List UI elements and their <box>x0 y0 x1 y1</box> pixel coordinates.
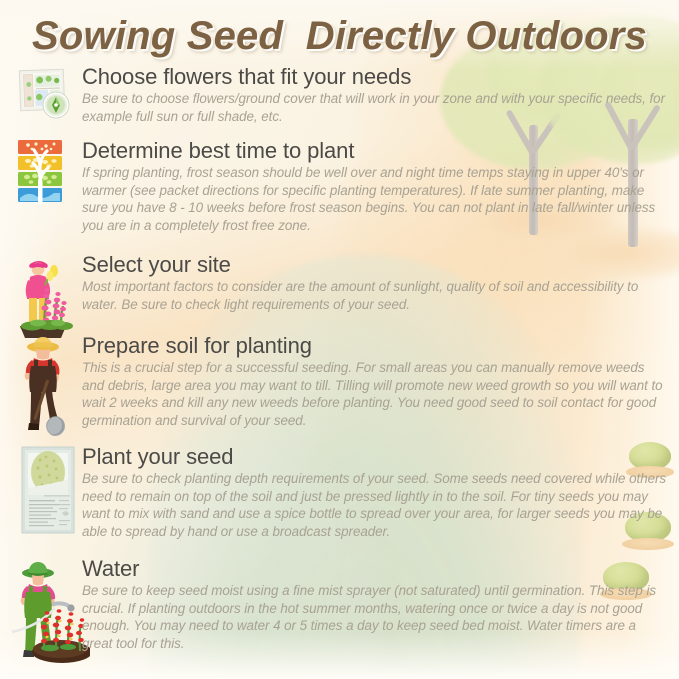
step-text: Plant your seed Be sure to check plantin… <box>82 444 670 540</box>
step-text: Determine best time to plant If spring p… <box>82 138 670 234</box>
step-body: This is a crucial step for a successful … <box>82 359 670 429</box>
garden-plan-compass-icon <box>14 64 76 126</box>
steps-list: Choose flowers that fit your needs Be su… <box>0 0 679 679</box>
step-body: Most important factors to consider are t… <box>82 278 670 313</box>
step-text: Choose flowers that fit your needs Be su… <box>82 64 670 125</box>
gardener-with-flowers-icon <box>14 252 80 340</box>
step-body: Be sure to keep seed moist using a fine … <box>82 582 668 652</box>
gardener-watering-icon <box>10 556 90 666</box>
step-heading: Choose flowers that fit your needs <box>82 64 670 89</box>
step-body: Be sure to check planting depth requirem… <box>82 470 670 540</box>
step-body: Be sure to choose flowers/ground cover t… <box>82 90 670 125</box>
seed-packet-icon <box>14 444 86 538</box>
step-heading: Water <box>82 556 668 581</box>
infographic-poster: Sowing Seed Directly Outdoors <box>0 0 679 679</box>
step-text: Prepare soil for planting This is a cruc… <box>82 333 670 429</box>
step-heading: Prepare soil for planting <box>82 333 670 358</box>
step-text: Select your site Most important factors … <box>82 252 670 313</box>
step-text: Water Be sure to keep seed moist using a… <box>82 556 668 652</box>
step-body: If spring planting, frost season should … <box>82 164 670 234</box>
four-seasons-icon <box>14 138 70 206</box>
step-heading: Determine best time to plant <box>82 138 670 163</box>
step-heading: Select your site <box>82 252 670 277</box>
gardener-with-shovel-icon <box>14 333 86 437</box>
step-heading: Plant your seed <box>82 444 670 469</box>
